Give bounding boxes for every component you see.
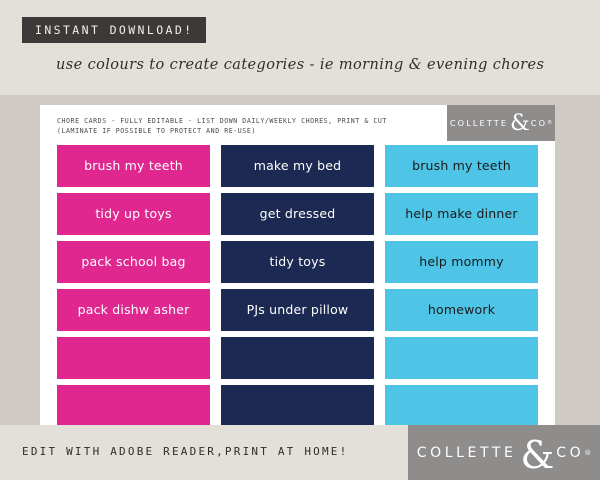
sheet-brand-suffix: CO xyxy=(531,118,547,128)
chore-card[interactable]: make my bed xyxy=(221,145,374,187)
chore-card-label: help make dinner xyxy=(405,207,518,221)
sheet-instructions-line-1: CHORE CARDS - FULLY EDITABLE - LIST DOWN… xyxy=(57,116,397,126)
chore-card[interactable]: tidy toys xyxy=(221,241,374,283)
footer-brand-logo: COLLETTE & CO ® xyxy=(408,425,600,480)
printable-sheet: CHORE CARDS - FULLY EDITABLE - LIST DOWN… xyxy=(40,105,555,425)
chore-card-blank[interactable] xyxy=(221,337,374,379)
sheet-instructions-line-2: (LAMINATE IF POSSIBLE TO PROTECT AND RE-… xyxy=(57,126,397,136)
chore-card[interactable]: help mommy xyxy=(385,241,538,283)
chore-column-navy: make my bed get dressed tidy toys PJs un… xyxy=(221,145,374,425)
chore-card[interactable]: pack school bag xyxy=(57,241,210,283)
registered-mark-icon: ® xyxy=(547,120,552,126)
chore-card[interactable]: tidy up toys xyxy=(57,193,210,235)
chore-card-blank[interactable] xyxy=(385,385,538,425)
chore-card[interactable]: help make dinner xyxy=(385,193,538,235)
chore-card-label: get dressed xyxy=(260,207,336,221)
sheet-instructions: CHORE CARDS - FULLY EDITABLE - LIST DOWN… xyxy=(57,116,397,136)
chore-card-blank[interactable] xyxy=(57,337,210,379)
chore-column-pink: brush my teeth tidy up toys pack school … xyxy=(57,145,210,425)
tagline-text: use colours to create categories - ie mo… xyxy=(56,57,576,73)
footer-brand-suffix: CO xyxy=(556,445,584,461)
chore-card-label: pack dishw asher xyxy=(78,303,190,317)
chore-card[interactable]: brush my teeth xyxy=(385,145,538,187)
chore-card-label: homework xyxy=(428,303,495,317)
chore-card-label: tidy up toys xyxy=(95,207,171,221)
sheet-brand-logo-text: COLLETTE & CO ® xyxy=(450,112,552,134)
chore-card-blank[interactable] xyxy=(57,385,210,425)
sheet-brand-logo: COLLETTE & CO ® xyxy=(447,105,555,141)
chore-card-label: brush my teeth xyxy=(412,159,511,173)
chore-card[interactable]: pack dishw asher xyxy=(57,289,210,331)
footer-instruction-text: EDIT WITH ADOBE READER,PRINT AT HOME! xyxy=(22,445,348,458)
chore-card-label: make my bed xyxy=(254,159,342,173)
footer-brand-name: COLLETTE xyxy=(417,445,517,461)
bottom-banner: EDIT WITH ADOBE READER,PRINT AT HOME! CO… xyxy=(0,425,600,480)
instant-download-badge: INSTANT DOWNLOAD! xyxy=(22,17,206,43)
ampersand-icon: & xyxy=(520,436,554,474)
top-banner: INSTANT DOWNLOAD! use colours to create … xyxy=(0,0,600,95)
registered-mark-icon: ® xyxy=(584,449,591,457)
chore-card[interactable]: PJs under pillow xyxy=(221,289,374,331)
chore-card[interactable]: get dressed xyxy=(221,193,374,235)
chore-column-blue: brush my teeth help make dinner help mom… xyxy=(385,145,538,425)
chore-card[interactable]: brush my teeth xyxy=(57,145,210,187)
chore-card-label: tidy toys xyxy=(270,255,326,269)
chore-card-blank[interactable] xyxy=(385,337,538,379)
chore-card[interactable]: homework xyxy=(385,289,538,331)
sheet-brand-name: COLLETTE xyxy=(450,118,508,128)
chore-card-label: pack school bag xyxy=(81,255,185,269)
footer-brand-logo-text: COLLETTE & CO ® xyxy=(417,434,592,472)
chore-card-label: help mommy xyxy=(419,255,504,269)
chore-card-blank[interactable] xyxy=(221,385,374,425)
ampersand-icon: & xyxy=(510,113,530,135)
chore-card-label: PJs under pillow xyxy=(247,303,349,317)
chore-card-label: brush my teeth xyxy=(84,159,183,173)
chore-card-grid: brush my teeth tidy up toys pack school … xyxy=(57,145,539,425)
